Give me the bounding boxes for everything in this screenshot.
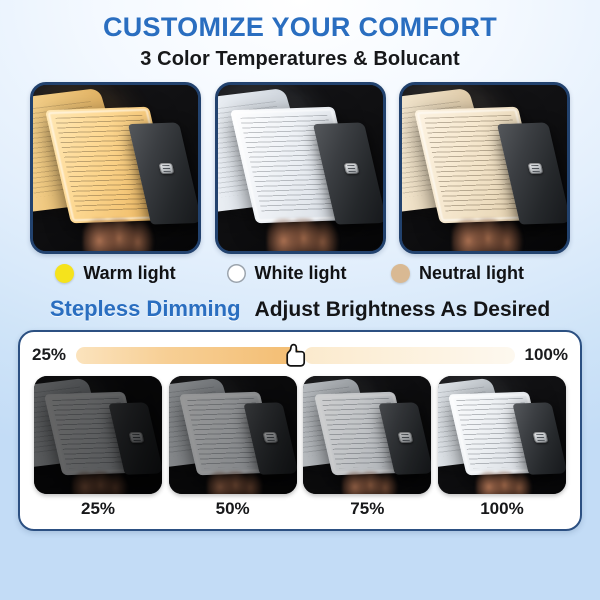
hand-holding-device: [342, 471, 401, 495]
book-light-scene-neutral: [402, 85, 567, 251]
power-button-icon: [398, 432, 414, 443]
brightness-label-75: 75%: [303, 499, 431, 519]
power-button-icon: [343, 163, 359, 174]
dimming-heading-primary: Stepless Dimming: [50, 296, 241, 322]
slider-max-label: 100%: [525, 345, 568, 365]
white-light-swatch-icon: [227, 264, 246, 283]
warm-light-photo[interactable]: [30, 82, 201, 254]
brightness-label-100: 100%: [438, 499, 566, 519]
color-temperature-legend: Warm light White light Neutral light: [0, 254, 600, 284]
book-light-scene-warm: [33, 85, 198, 251]
white-light-photo[interactable]: [215, 82, 386, 254]
book-light-scene-dim-50: [169, 376, 297, 494]
brightness-label-row: 25% 50% 75% 100%: [32, 494, 568, 519]
brightness-100-photo[interactable]: [438, 376, 566, 494]
brightness-label-50: 50%: [169, 499, 297, 519]
brightness-25-photo[interactable]: [34, 376, 162, 494]
neutral-light-swatch-icon: [391, 264, 410, 283]
hand-thumb-icon[interactable]: [282, 342, 308, 368]
page-title: CUSTOMIZE YOUR COMFORT: [0, 13, 600, 41]
legend-item-neutral[interactable]: Neutral light: [372, 263, 543, 284]
brightness-label-25: 25%: [34, 499, 162, 519]
brightness-gallery: [32, 368, 568, 494]
warm-light-swatch-icon: [55, 264, 74, 283]
neutral-light-photo[interactable]: [399, 82, 570, 254]
book-light-scene-dim-75: [303, 376, 431, 494]
page-subtitle: 3 Color Temperatures & Bolucant: [0, 49, 600, 70]
legend-label: Warm light: [83, 263, 175, 284]
header: CUSTOMIZE YOUR COMFORT 3 Color Temperatu…: [0, 0, 600, 70]
dimming-heading: Stepless Dimming Adjust Brightness As De…: [0, 284, 600, 322]
brightness-50-photo[interactable]: [169, 376, 297, 494]
hand-holding-device: [83, 218, 159, 251]
book-light-scene-white: [218, 85, 383, 251]
brightness-75-photo[interactable]: [303, 376, 431, 494]
hand-holding-device: [476, 471, 535, 495]
product-infographic: CUSTOMIZE YOUR COMFORT 3 Color Temperatu…: [0, 0, 600, 600]
slider-remainder: [304, 347, 514, 364]
legend-label: White light: [255, 263, 347, 284]
legend-label: Neutral light: [419, 263, 524, 284]
hand-holding-device: [267, 218, 343, 251]
hand-holding-device: [72, 471, 131, 495]
book-light-scene-dim-100: [438, 376, 566, 494]
legend-item-white[interactable]: White light: [201, 263, 372, 284]
power-button-icon: [532, 432, 548, 443]
hand-holding-device: [452, 218, 528, 251]
hand-holding-device: [207, 471, 266, 495]
legend-item-warm[interactable]: Warm light: [30, 263, 201, 284]
slider-fill: [76, 347, 300, 364]
power-button-icon: [528, 163, 544, 174]
slider-min-label: 25%: [32, 345, 66, 365]
slider-track[interactable]: [76, 347, 514, 364]
color-temperature-gallery: [0, 70, 600, 254]
power-button-icon: [128, 432, 144, 443]
brightness-slider[interactable]: 25% 100%: [32, 342, 568, 368]
dimming-card: 25% 100%: [18, 330, 582, 531]
dimming-heading-secondary: Adjust Brightness As Desired: [255, 298, 551, 322]
power-button-icon: [159, 163, 175, 174]
book-light-scene-dim-25: [34, 376, 162, 494]
